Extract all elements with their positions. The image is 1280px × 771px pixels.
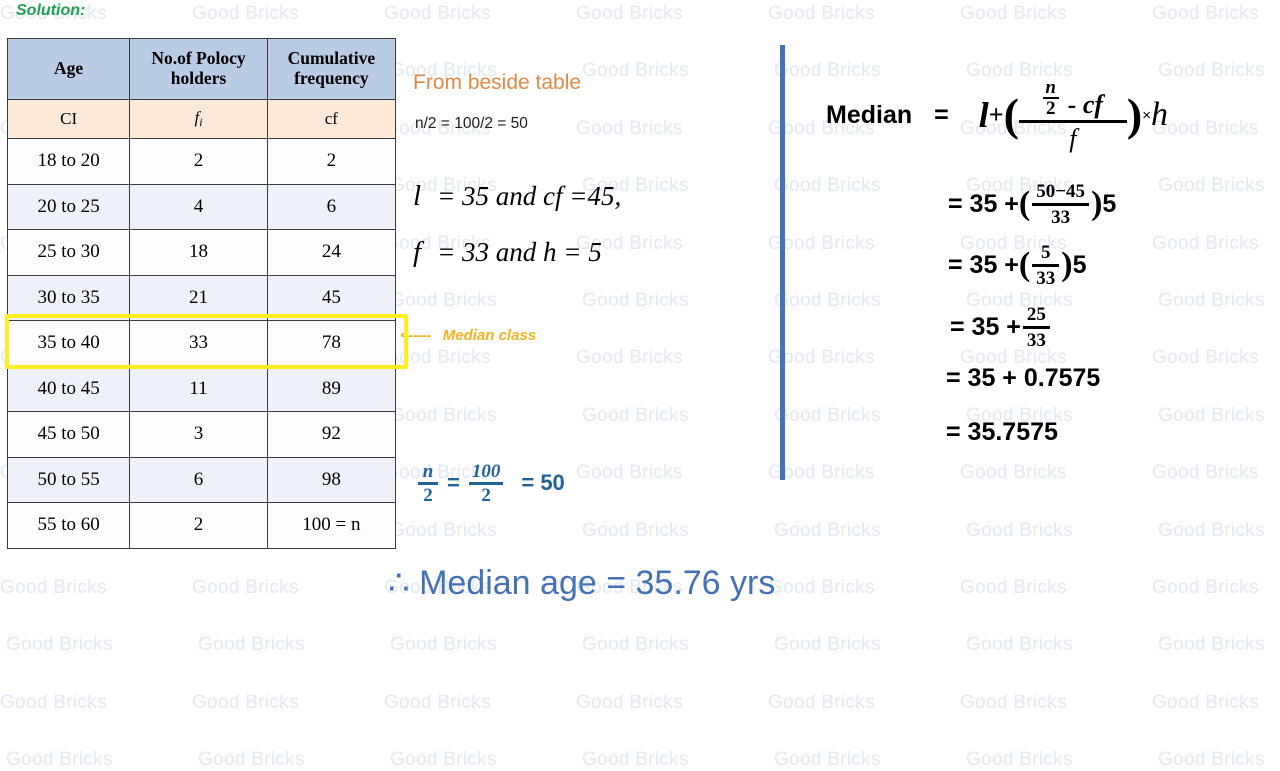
calculation-step-1-open-paren: ( xyxy=(1019,190,1030,219)
column-header-age: Age xyxy=(8,39,130,100)
cell-policy-holders: 4 xyxy=(130,184,267,230)
watermark-text: Good Bricks xyxy=(1152,692,1259,714)
cell-policy-holders: 6 xyxy=(130,457,267,503)
table-row: 55 to 602100 = n xyxy=(8,503,396,549)
median-formula-label: Median xyxy=(826,101,912,130)
table-header: Age No.of Polocy holders Cumulative freq… xyxy=(8,39,396,100)
calculation-step-1-denominator: 33 xyxy=(1047,206,1074,227)
watermark-text: Good Bricks xyxy=(774,290,881,312)
half-n-expression: n 2 = 100 2 = 50 xyxy=(409,462,565,505)
watermark-text: Good Bricks xyxy=(576,3,683,25)
cell-policy-holders: 33 xyxy=(130,321,267,367)
median-formula-inner-numerator: n xyxy=(1045,78,1056,97)
cell-cumulative-frequency: 6 xyxy=(267,184,395,230)
median-formula-times-icon: × xyxy=(1142,107,1151,124)
median-formula-l: l xyxy=(979,94,989,136)
watermark-text: Good Bricks xyxy=(960,462,1067,484)
subheader-fi: fi xyxy=(130,100,267,139)
watermark-text: Good Bricks xyxy=(1152,347,1259,369)
table-row: 35 to 403378 xyxy=(8,321,396,367)
median-formula-expression: l + ( n 2 - cf f ) × h xyxy=(979,78,1168,152)
fraction-100-over-2-numerator: 100 xyxy=(469,462,504,482)
watermark-text: Good Bricks xyxy=(966,634,1073,656)
watermark-text: Good Bricks xyxy=(774,749,881,771)
given-f-value: = 33 and h = 5 xyxy=(437,237,602,267)
subheader-ci: CI xyxy=(8,100,130,139)
table-row: 40 to 451189 xyxy=(8,366,396,412)
cell-age: 50 to 55 xyxy=(8,457,130,503)
cell-cumulative-frequency: 24 xyxy=(267,230,395,276)
median-formula-close-paren: ) xyxy=(1127,97,1142,134)
cell-age: 20 to 25 xyxy=(8,184,130,230)
n-over-2-note: n/2 = 100/2 = 50 xyxy=(415,115,528,133)
median-formula-h: h xyxy=(1151,96,1168,134)
fraction-n-over-2: n 2 xyxy=(418,462,438,505)
calculation-step-2-suffix: 5 xyxy=(1073,251,1087,280)
calculation-step-3: = 35 + 25 33 xyxy=(950,305,1052,350)
watermark-text: Good Bricks xyxy=(966,749,1073,771)
calculation-step-3-numerator: 25 xyxy=(1023,305,1050,326)
median-formula-minus-cf: - cf xyxy=(1068,92,1103,118)
frequency-distribution-table: Age No.of Polocy holders Cumulative freq… xyxy=(7,38,396,549)
watermark-text: Good Bricks xyxy=(582,405,689,427)
cell-cumulative-frequency: 2 xyxy=(267,139,395,185)
watermark-text: Good Bricks xyxy=(960,577,1067,599)
watermark-text: Good Bricks xyxy=(1152,3,1259,25)
calculation-step-3-fraction: 25 33 xyxy=(1023,305,1050,350)
watermark-text: Good Bricks xyxy=(768,3,875,25)
watermark-text: Good Bricks xyxy=(774,405,881,427)
cell-age: 55 to 60 xyxy=(8,503,130,549)
median-formula: Median = l + ( n 2 - cf f ) × h xyxy=(826,78,1168,152)
watermark-text: Good Bricks xyxy=(582,634,689,656)
fraction-n-over-2-numerator: n xyxy=(420,462,437,482)
subheader-cf: cf xyxy=(267,100,395,139)
conclusion-text: ∴ Median age = 35.76 yrs xyxy=(388,563,775,603)
watermark-text: Good Bricks xyxy=(0,577,107,599)
watermark-text: Good Bricks xyxy=(576,462,683,484)
table-row: 18 to 2022 xyxy=(8,139,396,185)
cell-policy-holders: 18 xyxy=(130,230,267,276)
watermark-text: Good Bricks xyxy=(192,577,299,599)
watermark-text: Good Bricks xyxy=(390,405,497,427)
watermark-text: Good Bricks xyxy=(966,520,1073,542)
watermark-text: Good Bricks xyxy=(774,520,881,542)
watermark-text: Good Bricks xyxy=(774,175,881,197)
watermark-text: Good Bricks xyxy=(960,692,1067,714)
watermark-text: Good Bricks xyxy=(582,290,689,312)
watermark-text: Good Bricks xyxy=(1152,577,1259,599)
watermark-text: Good Bricks xyxy=(1158,290,1265,312)
cell-policy-holders: 2 xyxy=(130,503,267,549)
watermark-text: Good Bricks xyxy=(582,520,689,542)
calculation-step-3-prefix: = 35 + xyxy=(950,313,1021,342)
watermark-text: Good Bricks xyxy=(960,3,1067,25)
calculation-step-2-numerator: 5 xyxy=(1037,243,1055,264)
median-class-label: Median class xyxy=(443,327,536,344)
given-values-l: l= 35 and cf =45, xyxy=(413,180,621,213)
given-f-symbol: f xyxy=(413,236,421,268)
median-formula-equals: = xyxy=(934,101,949,130)
watermark-text: Good Bricks xyxy=(768,577,875,599)
calculation-step-2-denominator: 33 xyxy=(1032,267,1059,288)
watermark-text: Good Bricks xyxy=(1158,405,1265,427)
table-body: CI fi cf 18 to 202220 to 254625 to 30182… xyxy=(8,100,396,549)
watermark-text: Good Bricks xyxy=(0,692,107,714)
column-header-cumulative-frequency-line2: frequency xyxy=(294,68,369,88)
given-values-f: f= 33 and h = 5 xyxy=(413,236,602,269)
calculation-step-2-prefix: = 35 + xyxy=(948,251,1019,280)
table-row: 30 to 352145 xyxy=(8,275,396,321)
cell-age: 35 to 40 xyxy=(8,321,130,367)
watermark-text: Good Bricks xyxy=(582,60,689,82)
watermark-text: Good Bricks xyxy=(390,634,497,656)
watermark-text: Good Bricks xyxy=(768,692,875,714)
calculation-step-2-open-paren: ( xyxy=(1019,251,1030,280)
cell-cumulative-frequency: 92 xyxy=(267,412,395,458)
watermark-text: Good Bricks xyxy=(1152,233,1259,255)
cell-policy-holders: 21 xyxy=(130,275,267,321)
cell-policy-holders: 2 xyxy=(130,139,267,185)
column-header-cumulative-frequency: Cumulative frequency xyxy=(267,39,395,100)
calculation-step-1-close-paren: ) xyxy=(1091,190,1102,219)
watermark-text: Good Bricks xyxy=(384,347,491,369)
table-header-row: Age No.of Polocy holders Cumulative freq… xyxy=(8,39,396,100)
watermark-text: Good Bricks xyxy=(576,347,683,369)
solution-label: Solution: xyxy=(16,2,85,20)
median-formula-inner-denominator: 2 xyxy=(1046,99,1056,118)
median-formula-inner-fraction: n 2 xyxy=(1043,78,1059,118)
watermark-text: Good Bricks xyxy=(1152,462,1259,484)
table-row: 25 to 301824 xyxy=(8,230,396,276)
given-l-symbol: l xyxy=(413,180,421,212)
watermark-text: Good Bricks xyxy=(384,692,491,714)
median-class-arrow-icon: <----- xyxy=(400,327,431,344)
calculation-step-1: = 35 + ( 50−45 33 ) 5 xyxy=(948,182,1116,227)
watermark-text: Good Bricks xyxy=(6,634,113,656)
fraction-100-over-2-denominator: 2 xyxy=(478,485,494,505)
column-header-policy-holders-line2: holders xyxy=(171,68,226,88)
watermark-text: Good Bricks xyxy=(192,3,299,25)
watermark-text: Good Bricks xyxy=(576,692,683,714)
calculation-step-2-close-paren: ) xyxy=(1061,251,1072,280)
watermark-text: Good Bricks xyxy=(1152,118,1259,140)
watermark-text: Good Bricks xyxy=(198,634,305,656)
calculation-step-5: = 35.7575 xyxy=(946,418,1058,447)
cell-policy-holders: 11 xyxy=(130,366,267,412)
table-row: 50 to 55698 xyxy=(8,457,396,503)
median-formula-plus: + xyxy=(989,100,1004,130)
watermark-text: Good Bricks xyxy=(1158,520,1265,542)
watermark-text: Good Bricks xyxy=(774,634,881,656)
calculation-step-3-denominator: 33 xyxy=(1023,329,1050,350)
calculation-step-1-prefix: = 35 + xyxy=(948,190,1019,219)
watermark-text: Good Bricks xyxy=(6,749,113,771)
watermark-text: Good Bricks xyxy=(1158,175,1265,197)
cell-age: 30 to 35 xyxy=(8,275,130,321)
cell-age: 40 to 45 xyxy=(8,366,130,412)
watermark-text: Good Bricks xyxy=(390,290,497,312)
calculation-step-1-fraction: 50−45 33 xyxy=(1032,182,1089,227)
median-formula-denominator: f xyxy=(1069,123,1076,152)
cell-cumulative-frequency: 89 xyxy=(267,366,395,412)
watermark-text: Good Bricks xyxy=(198,749,305,771)
half-n-equals-sign: = xyxy=(447,470,460,496)
half-n-result: = 50 xyxy=(521,470,564,496)
cell-policy-holders: 3 xyxy=(130,412,267,458)
column-header-cumulative-frequency-line1: Cumulative xyxy=(288,48,376,68)
table-row: 20 to 2546 xyxy=(8,184,396,230)
cell-age: 18 to 20 xyxy=(8,139,130,185)
watermark-text: Good Bricks xyxy=(1158,634,1265,656)
calculation-step-1-suffix: 5 xyxy=(1102,190,1116,219)
median-formula-open-paren: ( xyxy=(1004,97,1019,134)
calculation-step-1-numerator: 50−45 xyxy=(1032,182,1089,203)
from-beside-table-note: From beside table xyxy=(413,71,581,95)
cell-age: 25 to 30 xyxy=(8,230,130,276)
cell-cumulative-frequency: 100 = n xyxy=(267,503,395,549)
cell-cumulative-frequency: 98 xyxy=(267,457,395,503)
watermark-text: Good Bricks xyxy=(384,3,491,25)
fraction-100-over-2: 100 2 xyxy=(469,462,504,505)
table-subheader-row: CI fi cf xyxy=(8,100,396,139)
table-row: 45 to 50392 xyxy=(8,412,396,458)
subheader-fi-subscript: i xyxy=(199,115,202,129)
median-formula-fraction: n 2 - cf f xyxy=(1019,78,1127,152)
watermark-text: Good Bricks xyxy=(1158,749,1265,771)
median-formula-numerator: n 2 - cf xyxy=(1043,78,1103,120)
watermark-text: Good Bricks xyxy=(390,749,497,771)
cell-cumulative-frequency: 78 xyxy=(267,321,395,367)
watermark-text: Good Bricks xyxy=(576,118,683,140)
watermark-text: Good Bricks xyxy=(582,749,689,771)
watermark-text: Good Bricks xyxy=(1158,60,1265,82)
column-header-policy-holders-line1: No.of Polocy xyxy=(151,48,245,68)
column-header-policy-holders: No.of Polocy holders xyxy=(130,39,267,100)
fraction-n-over-2-denominator: 2 xyxy=(420,485,436,505)
calculation-step-2-fraction: 5 33 xyxy=(1032,243,1059,288)
calculation-step-4: = 35 + 0.7575 xyxy=(946,364,1100,393)
watermark-text: Good Bricks xyxy=(192,692,299,714)
vertical-divider xyxy=(780,45,785,480)
cell-cumulative-frequency: 45 xyxy=(267,275,395,321)
watermark-text: Good Bricks xyxy=(390,520,497,542)
median-class-annotation: <-----Median class xyxy=(400,327,536,344)
cell-age: 45 to 50 xyxy=(8,412,130,458)
given-l-value: = 35 and cf =45, xyxy=(437,181,621,211)
calculation-step-2: = 35 + ( 5 33 ) 5 xyxy=(948,243,1086,288)
